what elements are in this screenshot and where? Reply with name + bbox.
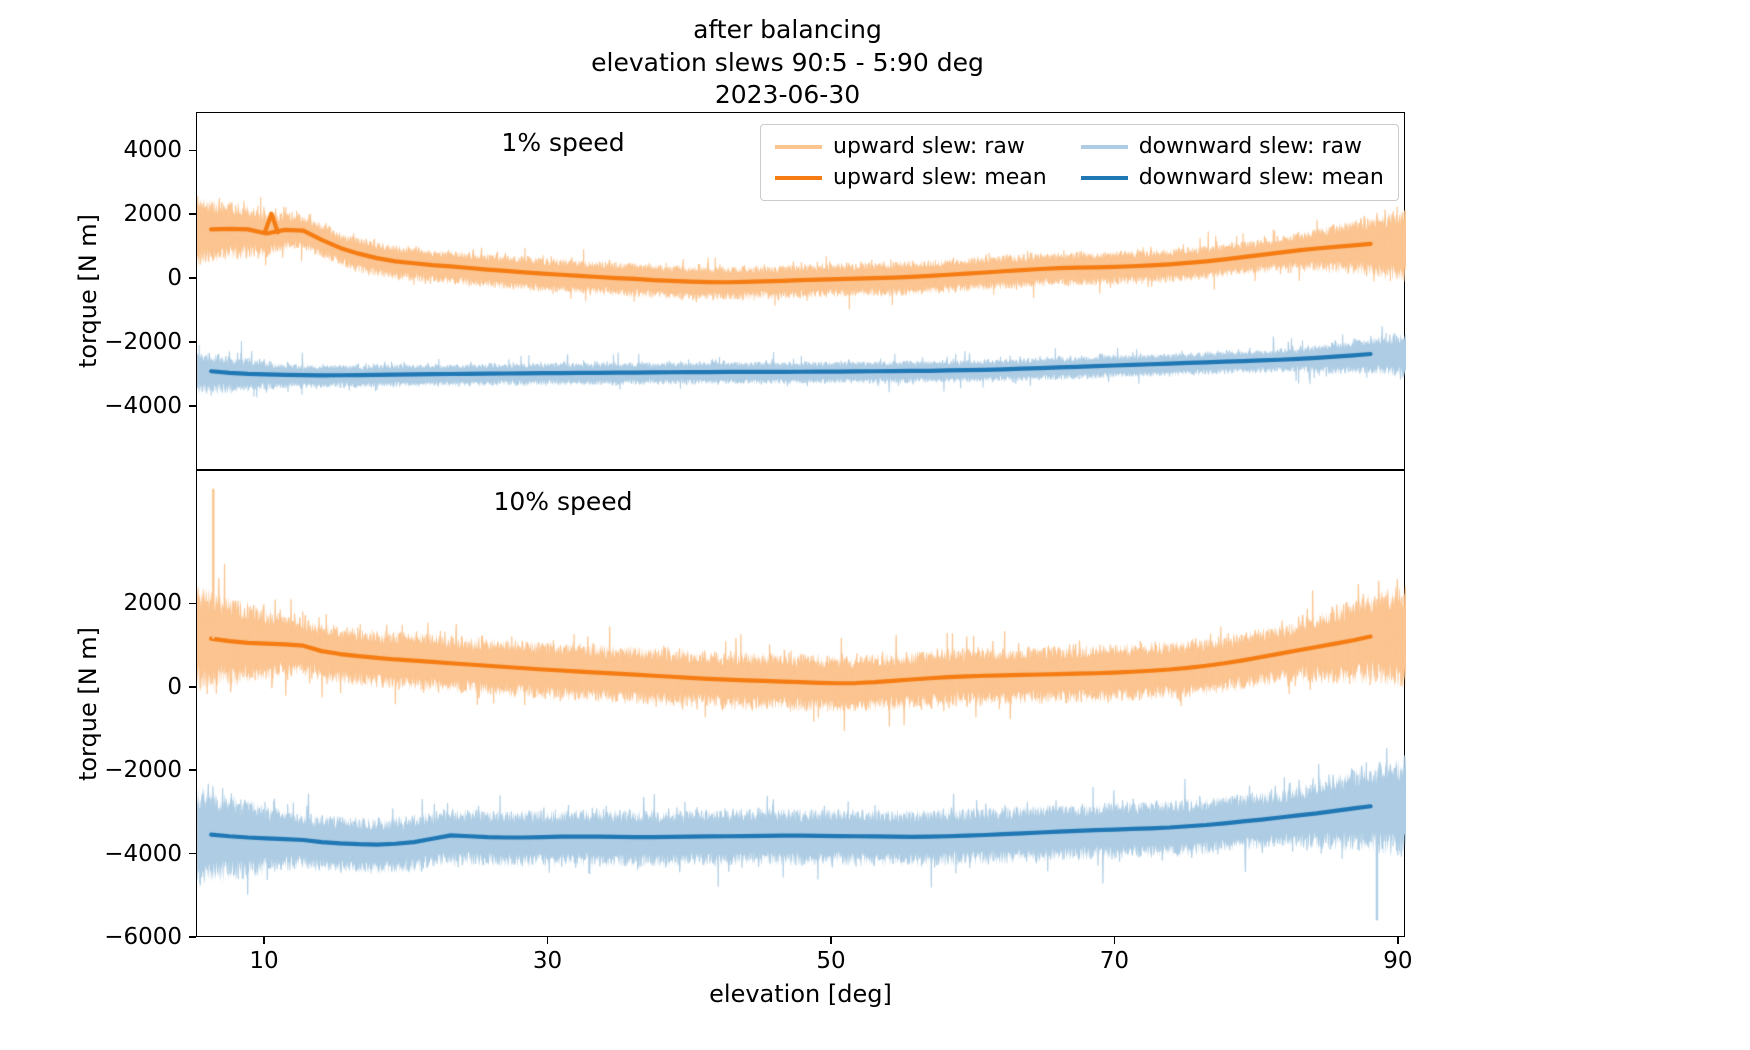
x-tick-label: 30: [533, 948, 562, 974]
title-line-1: after balancing: [0, 14, 1575, 47]
y-tick-mark: [189, 213, 196, 215]
legend-swatch-upward-raw: [775, 145, 822, 149]
legend-label-upward-mean: upward slew: mean: [833, 165, 1047, 190]
y-tick-mark: [189, 853, 196, 855]
x-tick-mark: [1114, 937, 1116, 944]
title-line-3: 2023-06-30: [0, 79, 1575, 112]
legend-entry-upward-raw[interactable]: upward slew: raw: [775, 134, 1047, 159]
y-tick-label: −4000: [0, 393, 182, 419]
x-tick-label: 90: [1383, 948, 1412, 974]
legend-swatch-downward-mean: [1081, 176, 1128, 180]
y-tick-label: 0: [0, 265, 182, 291]
y-tick-label: 0: [0, 674, 182, 700]
y-tick-mark: [189, 150, 196, 152]
y-tick-label: −2000: [0, 757, 182, 783]
y-tick-mark: [189, 936, 196, 938]
y-tick-mark: [189, 341, 196, 343]
y-tick-mark: [189, 603, 196, 605]
panel-annotation-10-percent: 10% speed: [493, 487, 632, 516]
legend-entry-upward-mean[interactable]: upward slew: mean: [775, 165, 1047, 190]
y-tick-mark: [189, 277, 196, 279]
y-tick-mark: [189, 769, 196, 771]
figure-title: after balancing elevation slews 90:5 - 5…: [0, 14, 1575, 112]
y-tick-label: 4000: [0, 137, 182, 163]
legend-label-downward-raw: downward slew: raw: [1139, 134, 1362, 159]
legend-entry-downward-mean[interactable]: downward slew: mean: [1081, 165, 1384, 190]
y-tick-label: −6000: [0, 924, 182, 950]
x-tick-mark: [547, 937, 549, 944]
x-tick-label: 10: [249, 948, 278, 974]
legend: upward slew: raw downward slew: raw upwa…: [760, 124, 1399, 201]
x-tick-mark: [263, 937, 265, 944]
x-axis-label: elevation [deg]: [196, 980, 1405, 1008]
plot-area-10-percent: [197, 471, 1406, 938]
y-tick-mark: [189, 686, 196, 688]
y-tick-label: −4000: [0, 841, 182, 867]
legend-entry-downward-raw[interactable]: downward slew: raw: [1081, 134, 1384, 159]
y-tick-label: −2000: [0, 329, 182, 355]
x-tick-label: 70: [1100, 948, 1129, 974]
panel-annotation-1-percent: 1% speed: [501, 128, 624, 157]
y-tick-label: 2000: [0, 201, 182, 227]
title-line-2: elevation slews 90:5 - 5:90 deg: [0, 47, 1575, 80]
legend-swatch-upward-mean: [775, 176, 822, 180]
y-tick-mark: [189, 405, 196, 407]
subplot-10-percent-speed: [196, 470, 1405, 937]
legend-label-upward-raw: upward slew: raw: [833, 134, 1025, 159]
figure-canvas: after balancing elevation slews 90:5 - 5…: [0, 0, 1750, 1050]
legend-swatch-downward-raw: [1081, 145, 1128, 149]
x-tick-label: 50: [816, 948, 845, 974]
legend-label-downward-mean: downward slew: mean: [1139, 165, 1384, 190]
x-tick-mark: [830, 937, 832, 944]
x-tick-mark: [1397, 937, 1399, 944]
y-tick-label: 2000: [0, 590, 182, 616]
